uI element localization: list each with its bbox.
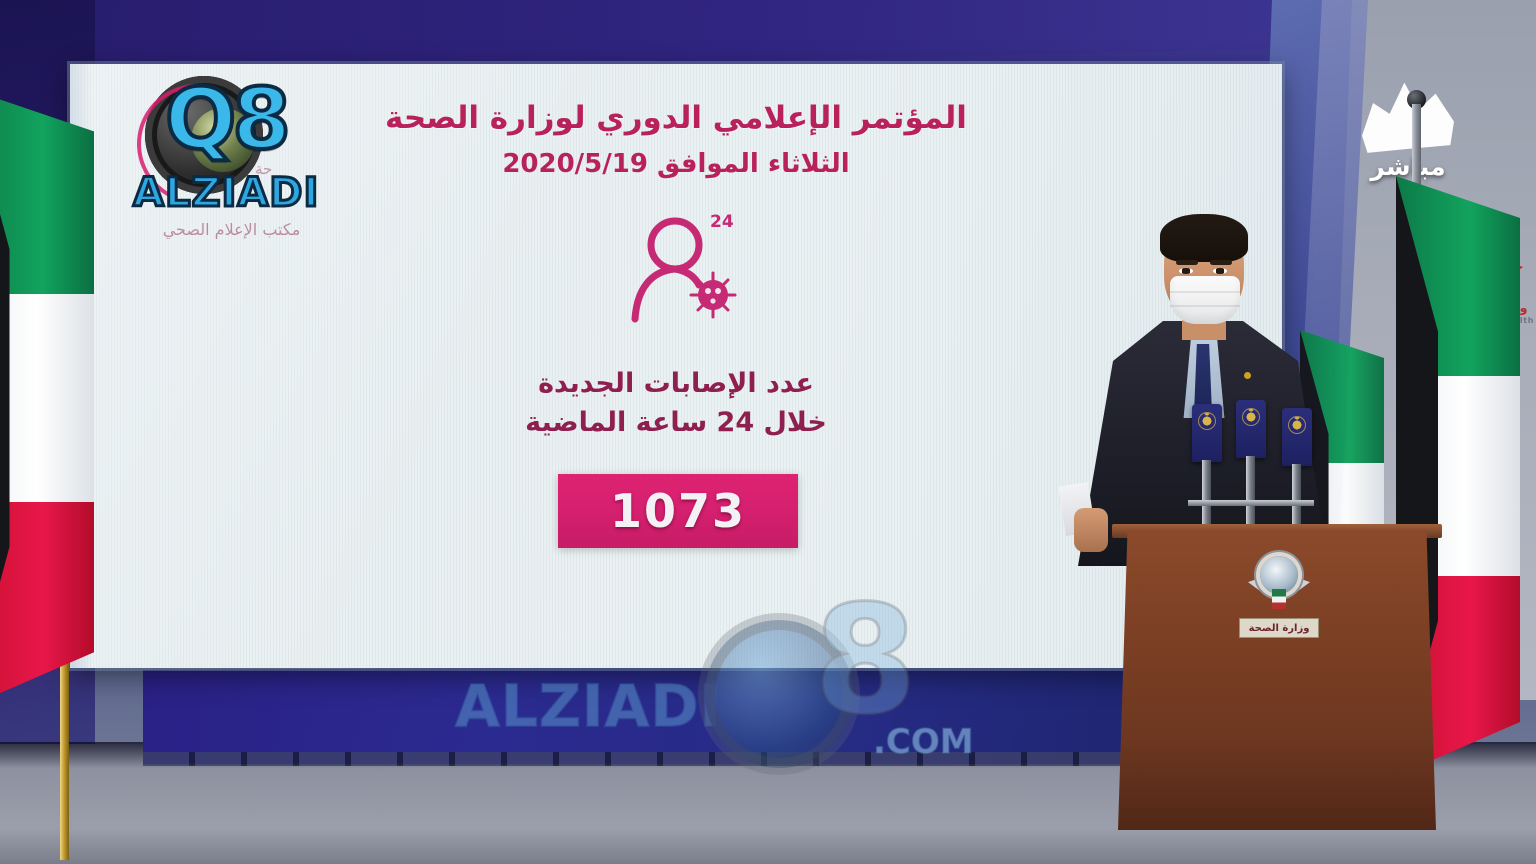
microphone-flag-2 bbox=[1236, 400, 1266, 458]
kuwait-flag-left bbox=[0, 88, 94, 708]
microphone-stem-3 bbox=[1292, 464, 1301, 532]
new-cases-value: 1073 bbox=[610, 484, 746, 538]
speaker-brow-right bbox=[1210, 260, 1232, 265]
site-watermark: ALZIADI 8 .COM bbox=[455, 630, 1035, 790]
microphone-flag-3 bbox=[1282, 408, 1312, 466]
new-cases-value-box: 1073 bbox=[558, 474, 798, 548]
speaker-lapel-pin bbox=[1244, 372, 1251, 379]
kuwait-moh-emblem-icon bbox=[1248, 556, 1310, 614]
channel-logo: حة Q8 ALZIADI مكتب الإعلام الصحي bbox=[125, 70, 340, 215]
broadcast-frame: المؤتمر الإعلامي الدوري لوزارة الصحة الث… bbox=[0, 0, 1536, 864]
podium-plate-text: وزارة الصحة bbox=[1249, 623, 1310, 634]
channel-logo-name: ALZIADI bbox=[133, 170, 319, 216]
flag-stripe-white bbox=[0, 294, 94, 501]
speaker-brow-left bbox=[1176, 260, 1198, 265]
speaker-eye-right bbox=[1213, 268, 1227, 274]
microphone-cross-bar bbox=[1188, 500, 1314, 506]
speaker-face-mask bbox=[1170, 276, 1240, 324]
channel-logo-tagline: مكتب الإعلام الصحي bbox=[129, 220, 334, 239]
microphone-flag-1 bbox=[1192, 404, 1222, 462]
microphone-stem-1 bbox=[1202, 460, 1211, 532]
watermark-name: ALZIADI bbox=[455, 672, 722, 740]
emblem-base bbox=[1272, 589, 1286, 609]
live-flag-icon bbox=[1362, 78, 1454, 156]
podium-emblem: وزارة الصحة bbox=[1236, 556, 1322, 652]
speaker-hair bbox=[1160, 214, 1248, 262]
flag-stripe-green bbox=[0, 88, 94, 294]
microphone-stem-2 bbox=[1246, 456, 1255, 532]
podium-name-plate: وزارة الصحة bbox=[1239, 618, 1319, 638]
channel-logo-mark: Q8 bbox=[165, 70, 287, 168]
flag-stripe-red bbox=[0, 502, 94, 708]
flag-cloth bbox=[0, 88, 94, 708]
speaker-eye-left bbox=[1179, 268, 1193, 274]
speaker-hand bbox=[1074, 508, 1108, 552]
watermark-tld: .COM bbox=[873, 722, 974, 762]
